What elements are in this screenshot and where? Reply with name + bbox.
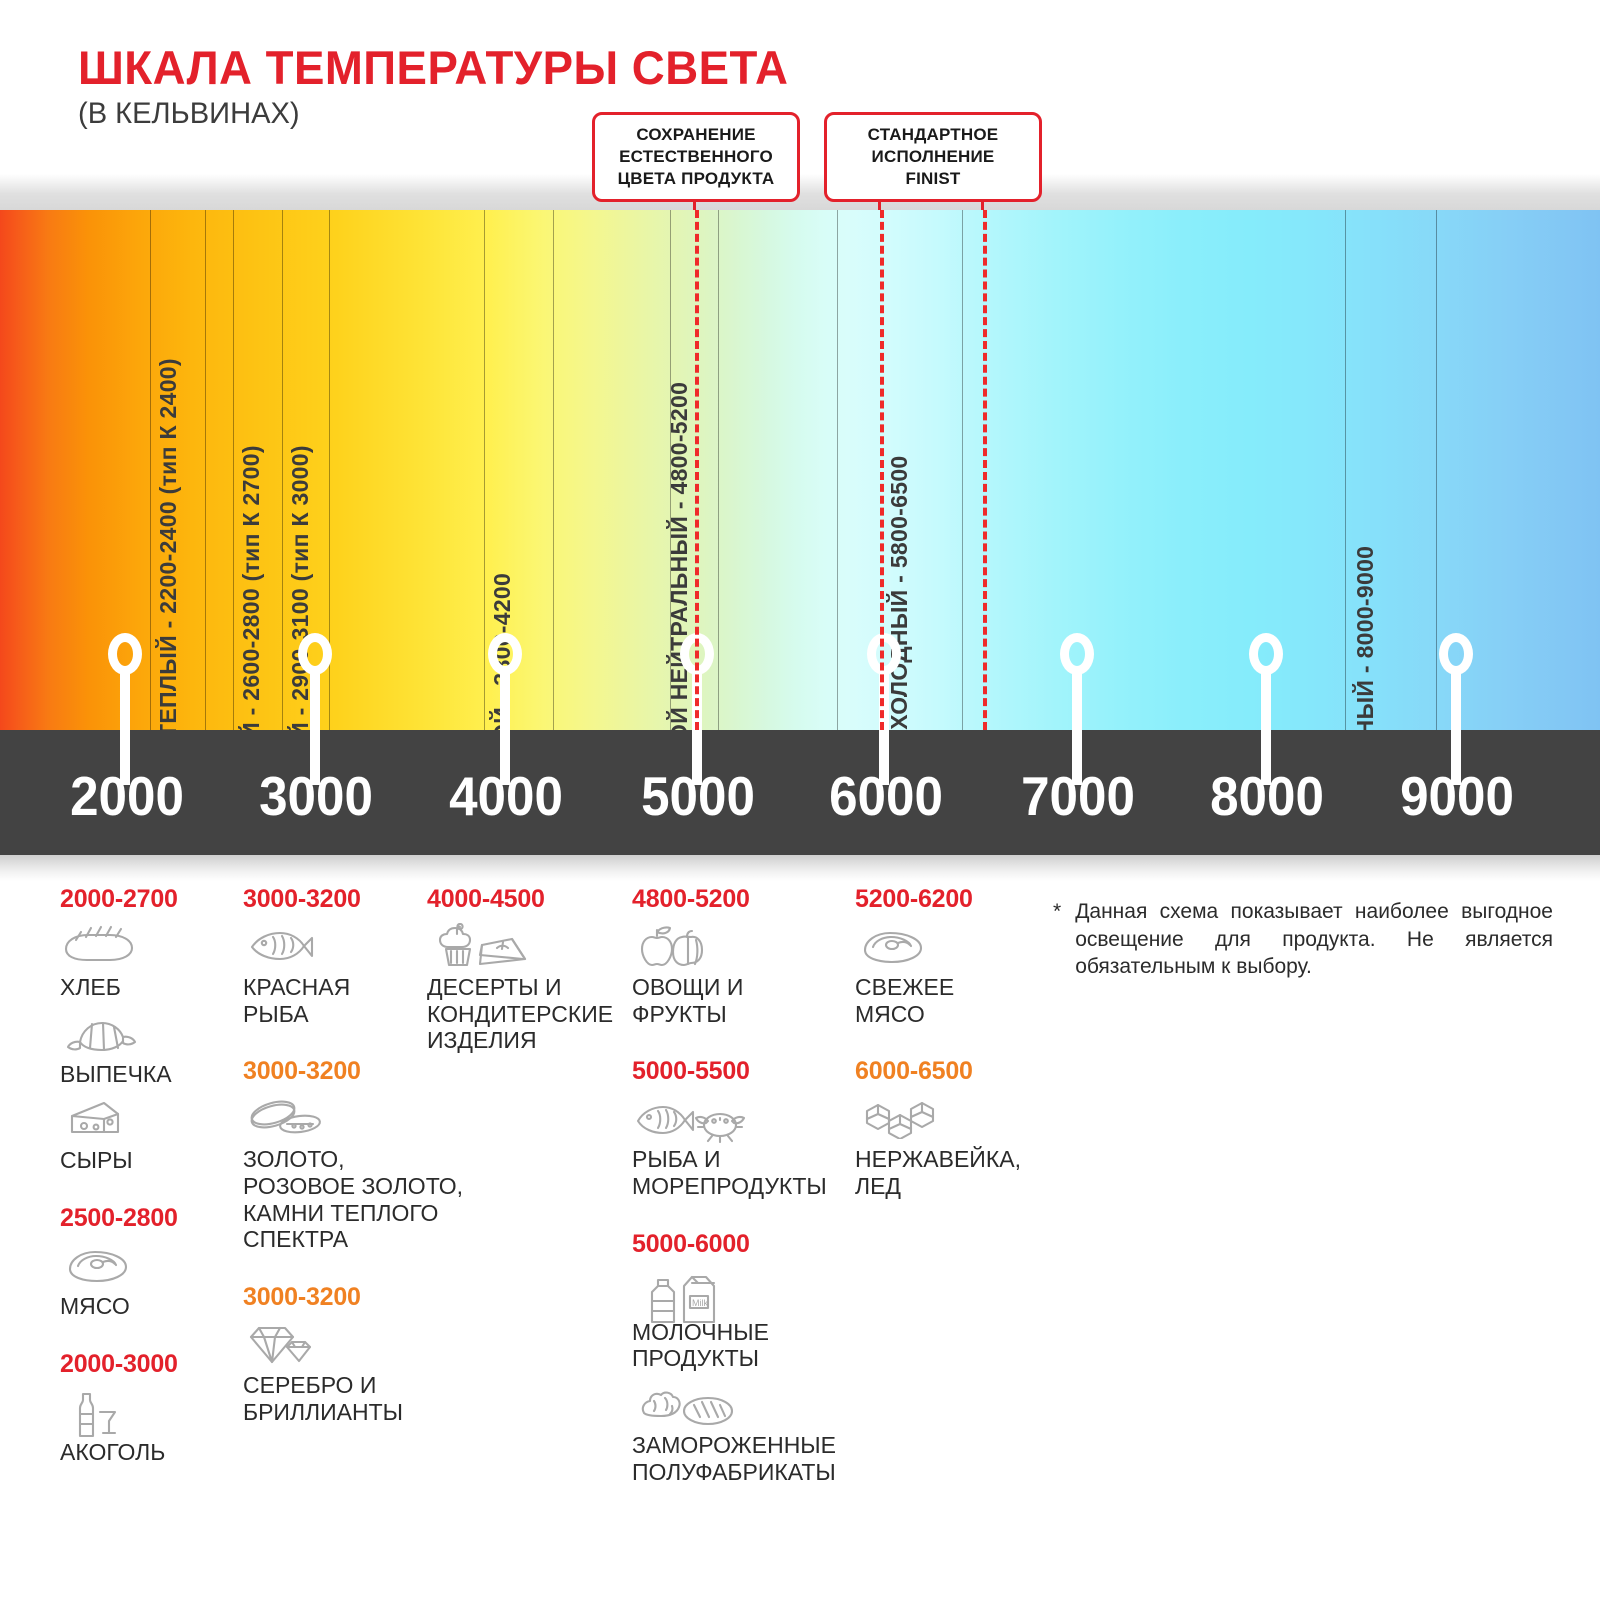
marker-stem	[500, 669, 510, 785]
legend-range-label: 5000-5500	[632, 1057, 857, 1086]
legend-group: 4000-4500ДЕСЕРТЫ И КОНДИТЕРСКИЕ ИЗДЕЛИЯ	[427, 885, 627, 1054]
cheese-icon	[60, 1096, 240, 1142]
spectrum-divider	[962, 210, 963, 730]
legend-range-label: 2500-2800	[60, 1204, 240, 1233]
legend-range-label: 2000-2700	[60, 885, 240, 914]
legend-item-label: РЫБА И МОРЕПРОДУКТЫ	[632, 1146, 857, 1199]
spectrum-divider	[484, 210, 485, 730]
legend-item-label: АКОГОЛЬ	[60, 1439, 240, 1466]
legend-range-label: 5000-6000	[632, 1230, 857, 1259]
legend-column-5: 5200-6200СВЕЖЕЕ МЯСО6000-6500НЕРЖАВЕЙКА,…	[855, 885, 1045, 1200]
infographic-root: ШКАЛА ТЕМПЕРАТУРЫ СВЕТА (В КЕЛЬВИНАХ) СО…	[0, 0, 1600, 1600]
alcohol-icon	[60, 1388, 240, 1434]
legend-item: ДЕСЕРТЫ И КОНДИТЕРСКИЕ ИЗДЕЛИЯ	[427, 923, 627, 1054]
legend-item-label: МЯСО	[60, 1293, 240, 1320]
legend-item: MilkМОЛОЧНЫЕ ПРОДУКТЫ	[632, 1268, 857, 1372]
legend-range-label: 4800-5200	[632, 885, 857, 914]
spectrum-divider	[837, 210, 838, 730]
marker-stem	[120, 669, 130, 785]
legend-range-label: 5200-6200	[855, 885, 1045, 914]
legend-column-3: 4000-4500ДЕСЕРТЫ И КОНДИТЕРСКИЕ ИЗДЕЛИЯ	[427, 885, 627, 1054]
marker-stem	[1261, 669, 1271, 785]
callout-1-text: СТАНДАРТНОЕ ИСПОЛНЕНИЕ FINIST	[868, 125, 999, 188]
legend-item: МЯСО	[60, 1242, 240, 1320]
callout-0-text: СОХРАНЕНИЕ ЕСТЕСТВЕННОГО ЦВЕТА ПРОДУКТА	[618, 125, 775, 188]
legend-item: НЕРЖАВЕЙКА, ЛЕД	[855, 1095, 1045, 1199]
legend-range-label: 2000-3000	[60, 1350, 240, 1379]
spectrum-divider	[718, 210, 719, 730]
gold-rings-icon	[243, 1095, 478, 1141]
fish-crab-icon	[632, 1095, 857, 1141]
spectrum-divider	[282, 210, 283, 730]
dashed-line-6000k	[880, 210, 884, 730]
spectrum-divider	[1436, 210, 1437, 730]
legend-item: ХЛЕБ	[60, 923, 240, 1001]
legend-item-label: МОЛОЧНЫЕ ПРОДУКТЫ	[632, 1319, 857, 1372]
legend-group: 4800-5200ОВОЩИ И ФРУКТЫ	[632, 885, 857, 1027]
kelvin-scale-band	[0, 730, 1600, 855]
milk-icon: Milk	[632, 1268, 857, 1314]
legend-item-label: ДЕСЕРТЫ И КОНДИТЕРСКИЕ ИЗДЕЛИЯ	[427, 974, 627, 1054]
legend-group: 5000-5500РЫБА И МОРЕПРОДУКТЫ	[632, 1057, 857, 1199]
legend-item-label: ЗОЛОТО, РОЗОВОЕ ЗОЛОТО, КАМНИ ТЕПЛОГО СП…	[243, 1146, 478, 1253]
callout-finist-standard: СТАНДАРТНОЕ ИСПОЛНЕНИЕ FINIST	[824, 112, 1042, 202]
legend-item-label: СЫРЫ	[60, 1147, 240, 1174]
legend-item: ЗОЛОТО, РОЗОВОЕ ЗОЛОТО, КАМНИ ТЕПЛОГО СП…	[243, 1095, 478, 1253]
spectrum-divider	[553, 210, 554, 730]
legend-group: 6000-6500НЕРЖАВЕЙКА, ЛЕД	[855, 1057, 1045, 1199]
legend-group: 5200-6200СВЕЖЕЕ МЯСО	[855, 885, 1045, 1027]
legend-item: СЕРЕБРО И БРИЛЛИАНТЫ	[243, 1321, 478, 1425]
grey-strip	[0, 174, 1600, 210]
marker-stem	[1072, 669, 1082, 785]
temperature-spectrum: СУПЕР ТЕПЛЫЙ - 2200-2400 (тип К 2400) ТЕ…	[0, 210, 1600, 730]
dashed-line-6500k	[983, 210, 987, 730]
fresh-meat-icon	[855, 923, 1045, 969]
legend-group: 3000-3200СЕРЕБРО И БРИЛЛИАНТЫ	[243, 1283, 478, 1425]
fruit-vegetable-icon	[632, 923, 857, 969]
steak-icon	[60, 1242, 240, 1288]
legend-range-label: 3000-3200	[243, 1283, 478, 1312]
croissant-icon	[60, 1010, 240, 1056]
page-title: ШКАЛА ТЕМПЕРАТУРЫ СВЕТА	[78, 40, 788, 95]
legend-item-label: ХЛЕБ	[60, 974, 240, 1001]
legend-item: СВЕЖЕЕ МЯСО	[855, 923, 1045, 1027]
callout-natural-color: СОХРАНЕНИЕ ЕСТЕСТВЕННОГО ЦВЕТА ПРОДУКТА	[592, 112, 800, 202]
legend-group: 2000-3000АКОГОЛЬ	[60, 1350, 240, 1466]
legend-range-label: 6000-6500	[855, 1057, 1045, 1086]
legend-group: 5000-6000MilkМОЛОЧНЫЕ ПРОДУКТЫЗАМОРОЖЕНН…	[632, 1230, 857, 1486]
legend-range-label: 3000-3200	[243, 1057, 478, 1086]
legend-group: 2000-2700ХЛЕБВЫПЕЧКАСЫРЫ	[60, 885, 240, 1174]
bread-icon	[60, 923, 240, 969]
frozen-food-icon	[632, 1381, 857, 1427]
spectrum-divider	[1345, 210, 1346, 730]
legend-item-label: СВЕЖЕЕ МЯСО	[855, 974, 1045, 1027]
legend-item: ВЫПЕЧКА	[60, 1010, 240, 1088]
legend-item: СЫРЫ	[60, 1096, 240, 1174]
legend-range-label: 4000-4500	[427, 885, 627, 914]
marker-stem	[310, 669, 320, 785]
legend-column-1: 2000-2700ХЛЕБВЫПЕЧКАСЫРЫ2500-2800МЯСО200…	[60, 885, 240, 1465]
ice-cubes-icon	[855, 1095, 1045, 1141]
spectrum-divider	[150, 210, 151, 730]
legend-item: РЫБА И МОРЕПРОДУКТЫ	[632, 1095, 857, 1199]
dessert-icon	[427, 923, 627, 969]
legend-group: 3000-3200ЗОЛОТО, РОЗОВОЕ ЗОЛОТО, КАМНИ Т…	[243, 1057, 478, 1253]
legend-item: АКОГОЛЬ	[60, 1388, 240, 1466]
legend-item: ОВОЩИ И ФРУКТЫ	[632, 923, 857, 1027]
legend-item-label: ОВОЩИ И ФРУКТЫ	[632, 974, 857, 1027]
svg-text:Milk: Milk	[692, 1298, 708, 1308]
dashed-line-5000k	[695, 210, 699, 730]
legend-item-label: НЕРЖАВЕЙКА, ЛЕД	[855, 1146, 1045, 1199]
legend-item-label: СЕРЕБРО И БРИЛЛИАНТЫ	[243, 1372, 478, 1425]
legend-group: 2500-2800МЯСО	[60, 1204, 240, 1320]
spectrum-divider	[233, 210, 234, 730]
legend-item-label: ВЫПЕЧКА	[60, 1061, 240, 1088]
spectrum-divider	[205, 210, 206, 730]
footnote-star: *	[1053, 898, 1061, 981]
legend-item-label: ЗАМОРОЖЕННЫЕ ПОЛУФАБРИКАТЫ	[632, 1432, 857, 1485]
legend-column-4: 4800-5200ОВОЩИ И ФРУКТЫ5000-5500РЫБА И М…	[632, 885, 857, 1485]
legend-item: ЗАМОРОЖЕННЫЕ ПОЛУФАБРИКАТЫ	[632, 1381, 857, 1485]
diamond-icon	[243, 1321, 478, 1367]
band-shadow	[0, 855, 1600, 881]
marker-stem	[1451, 669, 1461, 785]
footnote: * Данная схема показывает наиболее выгод…	[1053, 898, 1553, 981]
page-subtitle: (В КЕЛЬВИНАХ)	[78, 97, 300, 131]
footnote-text: Данная схема показывает наиболее выгодно…	[1075, 898, 1553, 981]
